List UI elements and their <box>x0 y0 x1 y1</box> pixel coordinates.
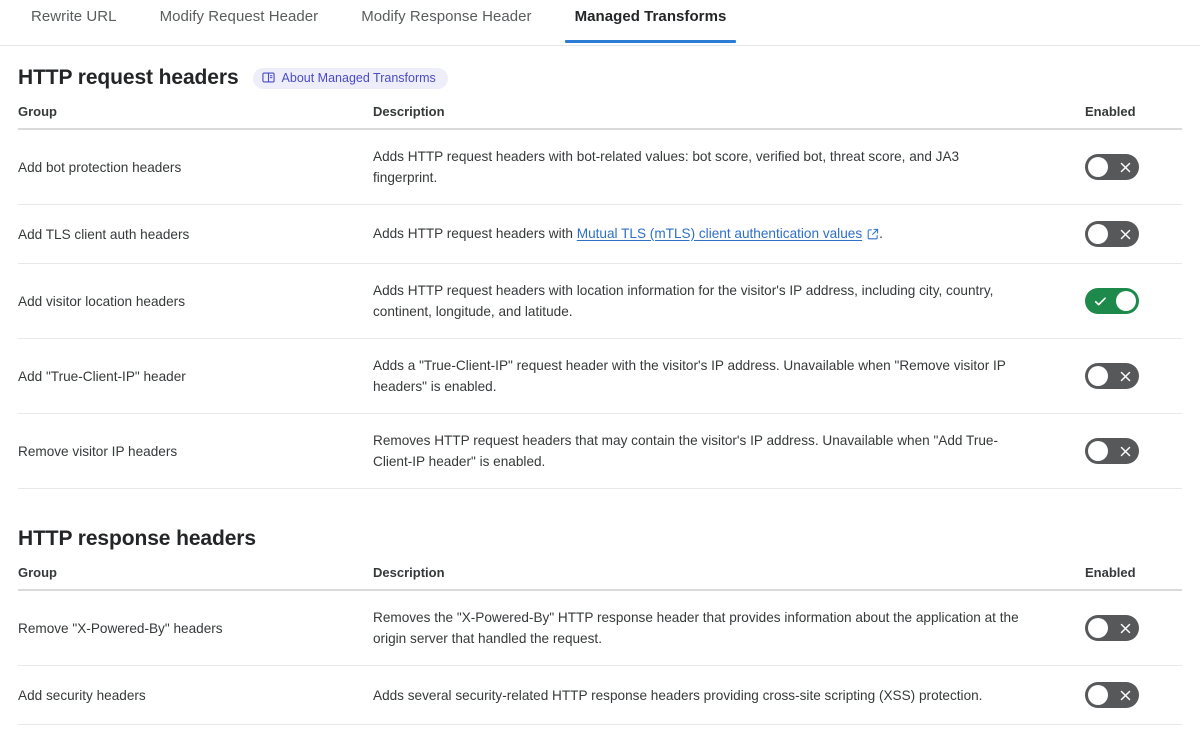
toggle-add-bot-protection-headers[interactable] <box>1085 154 1139 180</box>
close-icon <box>1120 615 1131 641</box>
toggle-knob <box>1088 618 1108 638</box>
toggle-add-tls-client-auth-headers[interactable] <box>1085 221 1139 247</box>
toggle-remove-x-powered-by-headers[interactable] <box>1085 615 1139 641</box>
row-group-name: Remove visitor IP headers <box>18 414 373 489</box>
page-title: HTTP request headers <box>18 66 239 90</box>
table-row: Add security headers Adds several securi… <box>18 666 1182 725</box>
table-row: Add "True-Client-IP" header Adds a "True… <box>18 339 1182 414</box>
row-description: Adds HTTP request headers with location … <box>373 264 1083 339</box>
column-header-description: Description <box>373 559 1083 590</box>
close-icon <box>1120 154 1131 180</box>
http-request-headers-section: HTTP request headers About Managed Trans… <box>0 58 1200 725</box>
table-header-row: Group Description Enabled <box>18 98 1182 129</box>
row-description: Removes the "X-Powered-By" HTTP response… <box>373 590 1083 666</box>
row-group-name: Add bot protection headers <box>18 129 373 205</box>
tab-bar: Rewrite URL Modify Request Header Modify… <box>0 0 1200 46</box>
row-description: Removes HTTP request headers that may co… <box>373 414 1083 489</box>
column-header-description: Description <box>373 98 1083 129</box>
column-header-group: Group <box>18 559 373 590</box>
toggle-knob <box>1088 224 1108 244</box>
row-group-name: Add visitor location headers <box>18 264 373 339</box>
toggle-add-true-client-ip-header[interactable] <box>1085 363 1139 389</box>
row-group-name: Add TLS client auth headers <box>18 205 373 264</box>
row-group-name: Remove "X-Powered-By" headers <box>18 590 373 666</box>
row-enabled-cell <box>1083 590 1182 666</box>
table-row: Add TLS client auth headers Adds HTTP re… <box>18 205 1182 264</box>
check-icon <box>1094 288 1107 314</box>
table-row: Remove "X-Powered-By" headers Removes th… <box>18 590 1182 666</box>
section-spacer <box>18 489 1182 519</box>
book-icon <box>262 71 275 84</box>
about-managed-transforms-badge[interactable]: About Managed Transforms <box>253 68 448 89</box>
row-enabled-cell <box>1083 339 1182 414</box>
close-icon <box>1120 438 1131 464</box>
row-enabled-cell <box>1083 264 1182 339</box>
column-header-enabled: Enabled <box>1083 98 1182 129</box>
toggle-add-security-headers[interactable] <box>1085 682 1139 708</box>
toggle-remove-visitor-ip-headers[interactable] <box>1085 438 1139 464</box>
row-description: Adds a "True-Client-IP" request header w… <box>373 339 1083 414</box>
external-link-icon <box>867 225 879 246</box>
row-enabled-cell <box>1083 666 1182 725</box>
description-text-before: Adds HTTP request headers with <box>373 226 577 241</box>
column-header-group: Group <box>18 98 373 129</box>
response-headers-table: Group Description Enabled Remove "X-Powe… <box>18 559 1182 725</box>
row-description: Adds HTTP request headers with Mutual TL… <box>373 205 1083 264</box>
row-description: Adds HTTP request headers with bot-relat… <box>373 129 1083 205</box>
about-badge-label: About Managed Transforms <box>282 71 436 85</box>
toggle-knob <box>1088 441 1108 461</box>
toggle-knob <box>1088 157 1108 177</box>
toggle-add-visitor-location-headers[interactable] <box>1085 288 1139 314</box>
row-enabled-cell <box>1083 205 1182 264</box>
toggle-knob <box>1088 685 1108 705</box>
description-text-after: . <box>879 226 883 241</box>
tab-modify-response-header[interactable]: Modify Response Header <box>361 0 531 43</box>
row-group-name: Add "True-Client-IP" header <box>18 339 373 414</box>
table-header-row: Group Description Enabled <box>18 559 1182 590</box>
row-enabled-cell <box>1083 129 1182 205</box>
tab-modify-request-header[interactable]: Modify Request Header <box>160 0 319 43</box>
close-icon <box>1120 682 1131 708</box>
tab-rewrite-url[interactable]: Rewrite URL <box>31 0 117 43</box>
row-group-name: Add security headers <box>18 666 373 725</box>
mutual-tls-link[interactable]: Mutual TLS (mTLS) client authentication … <box>577 226 862 241</box>
toggle-knob <box>1088 366 1108 386</box>
row-enabled-cell <box>1083 414 1182 489</box>
table-row: Add visitor location headers Adds HTTP r… <box>18 264 1182 339</box>
table-row: Add bot protection headers Adds HTTP req… <box>18 129 1182 205</box>
request-headers-table: Group Description Enabled Add bot protec… <box>18 98 1182 489</box>
request-section-header: HTTP request headers About Managed Trans… <box>18 58 1182 98</box>
tab-managed-transforms[interactable]: Managed Transforms <box>575 0 727 43</box>
response-section-header: HTTP response headers <box>18 519 1182 559</box>
toggle-knob <box>1116 291 1136 311</box>
response-section-title: HTTP response headers <box>18 527 256 551</box>
row-description: Adds several security-related HTTP respo… <box>373 666 1083 725</box>
close-icon <box>1120 363 1131 389</box>
column-header-enabled: Enabled <box>1083 559 1182 590</box>
table-row: Remove visitor IP headers Removes HTTP r… <box>18 414 1182 489</box>
close-icon <box>1120 221 1131 247</box>
